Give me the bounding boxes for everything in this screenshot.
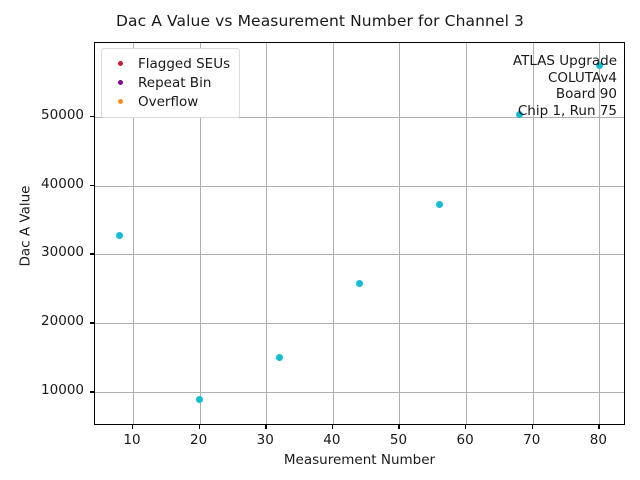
legend-marker-icon <box>109 99 131 104</box>
legend-label: Repeat Bin <box>131 75 211 91</box>
annotation-line: Chip 1, Run 75 <box>513 103 617 120</box>
y-tick-mark <box>90 391 94 392</box>
legend-marker-icon <box>109 61 131 66</box>
x-axis-label: Measurement Number <box>94 452 625 468</box>
x-tick-mark <box>265 425 266 429</box>
legend-dot-icon <box>118 61 123 66</box>
chart-figure: Dac A Value vs Measurement Number for Ch… <box>0 0 640 480</box>
data-point <box>116 232 123 239</box>
legend-item[interactable]: Flagged SEUs <box>109 54 230 73</box>
chart-title: Dac A Value vs Measurement Number for Ch… <box>0 12 640 30</box>
data-point <box>436 201 443 208</box>
data-point <box>276 354 283 361</box>
y-tick-mark <box>90 116 94 117</box>
y-tick-label: 20000 <box>0 313 84 329</box>
y-tick-label: 30000 <box>0 244 84 260</box>
legend-dot-icon <box>118 99 123 104</box>
x-tick-mark <box>465 425 466 429</box>
y-tick-mark <box>90 185 94 186</box>
legend-label: Flagged SEUs <box>131 56 230 72</box>
annotation-line: Board 90 <box>513 86 617 103</box>
legend-label: Overflow <box>131 94 198 110</box>
x-tick-mark <box>332 425 333 429</box>
x-tick-label: 60 <box>435 432 495 448</box>
x-tick-mark <box>398 425 399 429</box>
x-tick-label: 40 <box>302 432 362 448</box>
x-tick-mark <box>132 425 133 429</box>
y-tick-label: 40000 <box>0 176 84 192</box>
x-tick-label: 20 <box>169 432 229 448</box>
x-tick-label: 50 <box>368 432 428 448</box>
y-axis-label: Dac A Value <box>18 35 34 418</box>
legend-item[interactable]: Repeat Bin <box>109 73 230 92</box>
data-point <box>356 280 363 287</box>
x-tick-label: 30 <box>235 432 295 448</box>
run-info-annotation: ATLAS UpgradeCOLUTAv4Board 90Chip 1, Run… <box>513 53 617 119</box>
y-tick-label: 50000 <box>0 107 84 123</box>
x-tick-label: 80 <box>568 432 628 448</box>
x-tick-mark <box>199 425 200 429</box>
y-tick-label: 10000 <box>0 382 84 398</box>
legend-item[interactable]: Overflow <box>109 92 230 111</box>
chart-legend: Flagged SEUsRepeat BinOverflow <box>101 48 240 118</box>
x-tick-mark <box>532 425 533 429</box>
annotation-line: ATLAS Upgrade <box>513 53 617 70</box>
data-point <box>196 396 203 403</box>
legend-dot-icon <box>118 80 123 85</box>
legend-marker-icon <box>109 80 131 85</box>
y-tick-mark <box>90 253 94 254</box>
y-tick-mark <box>90 322 94 323</box>
x-tick-mark <box>598 425 599 429</box>
x-tick-label: 70 <box>502 432 562 448</box>
annotation-line: COLUTAv4 <box>513 70 617 87</box>
x-tick-label: 10 <box>102 432 162 448</box>
